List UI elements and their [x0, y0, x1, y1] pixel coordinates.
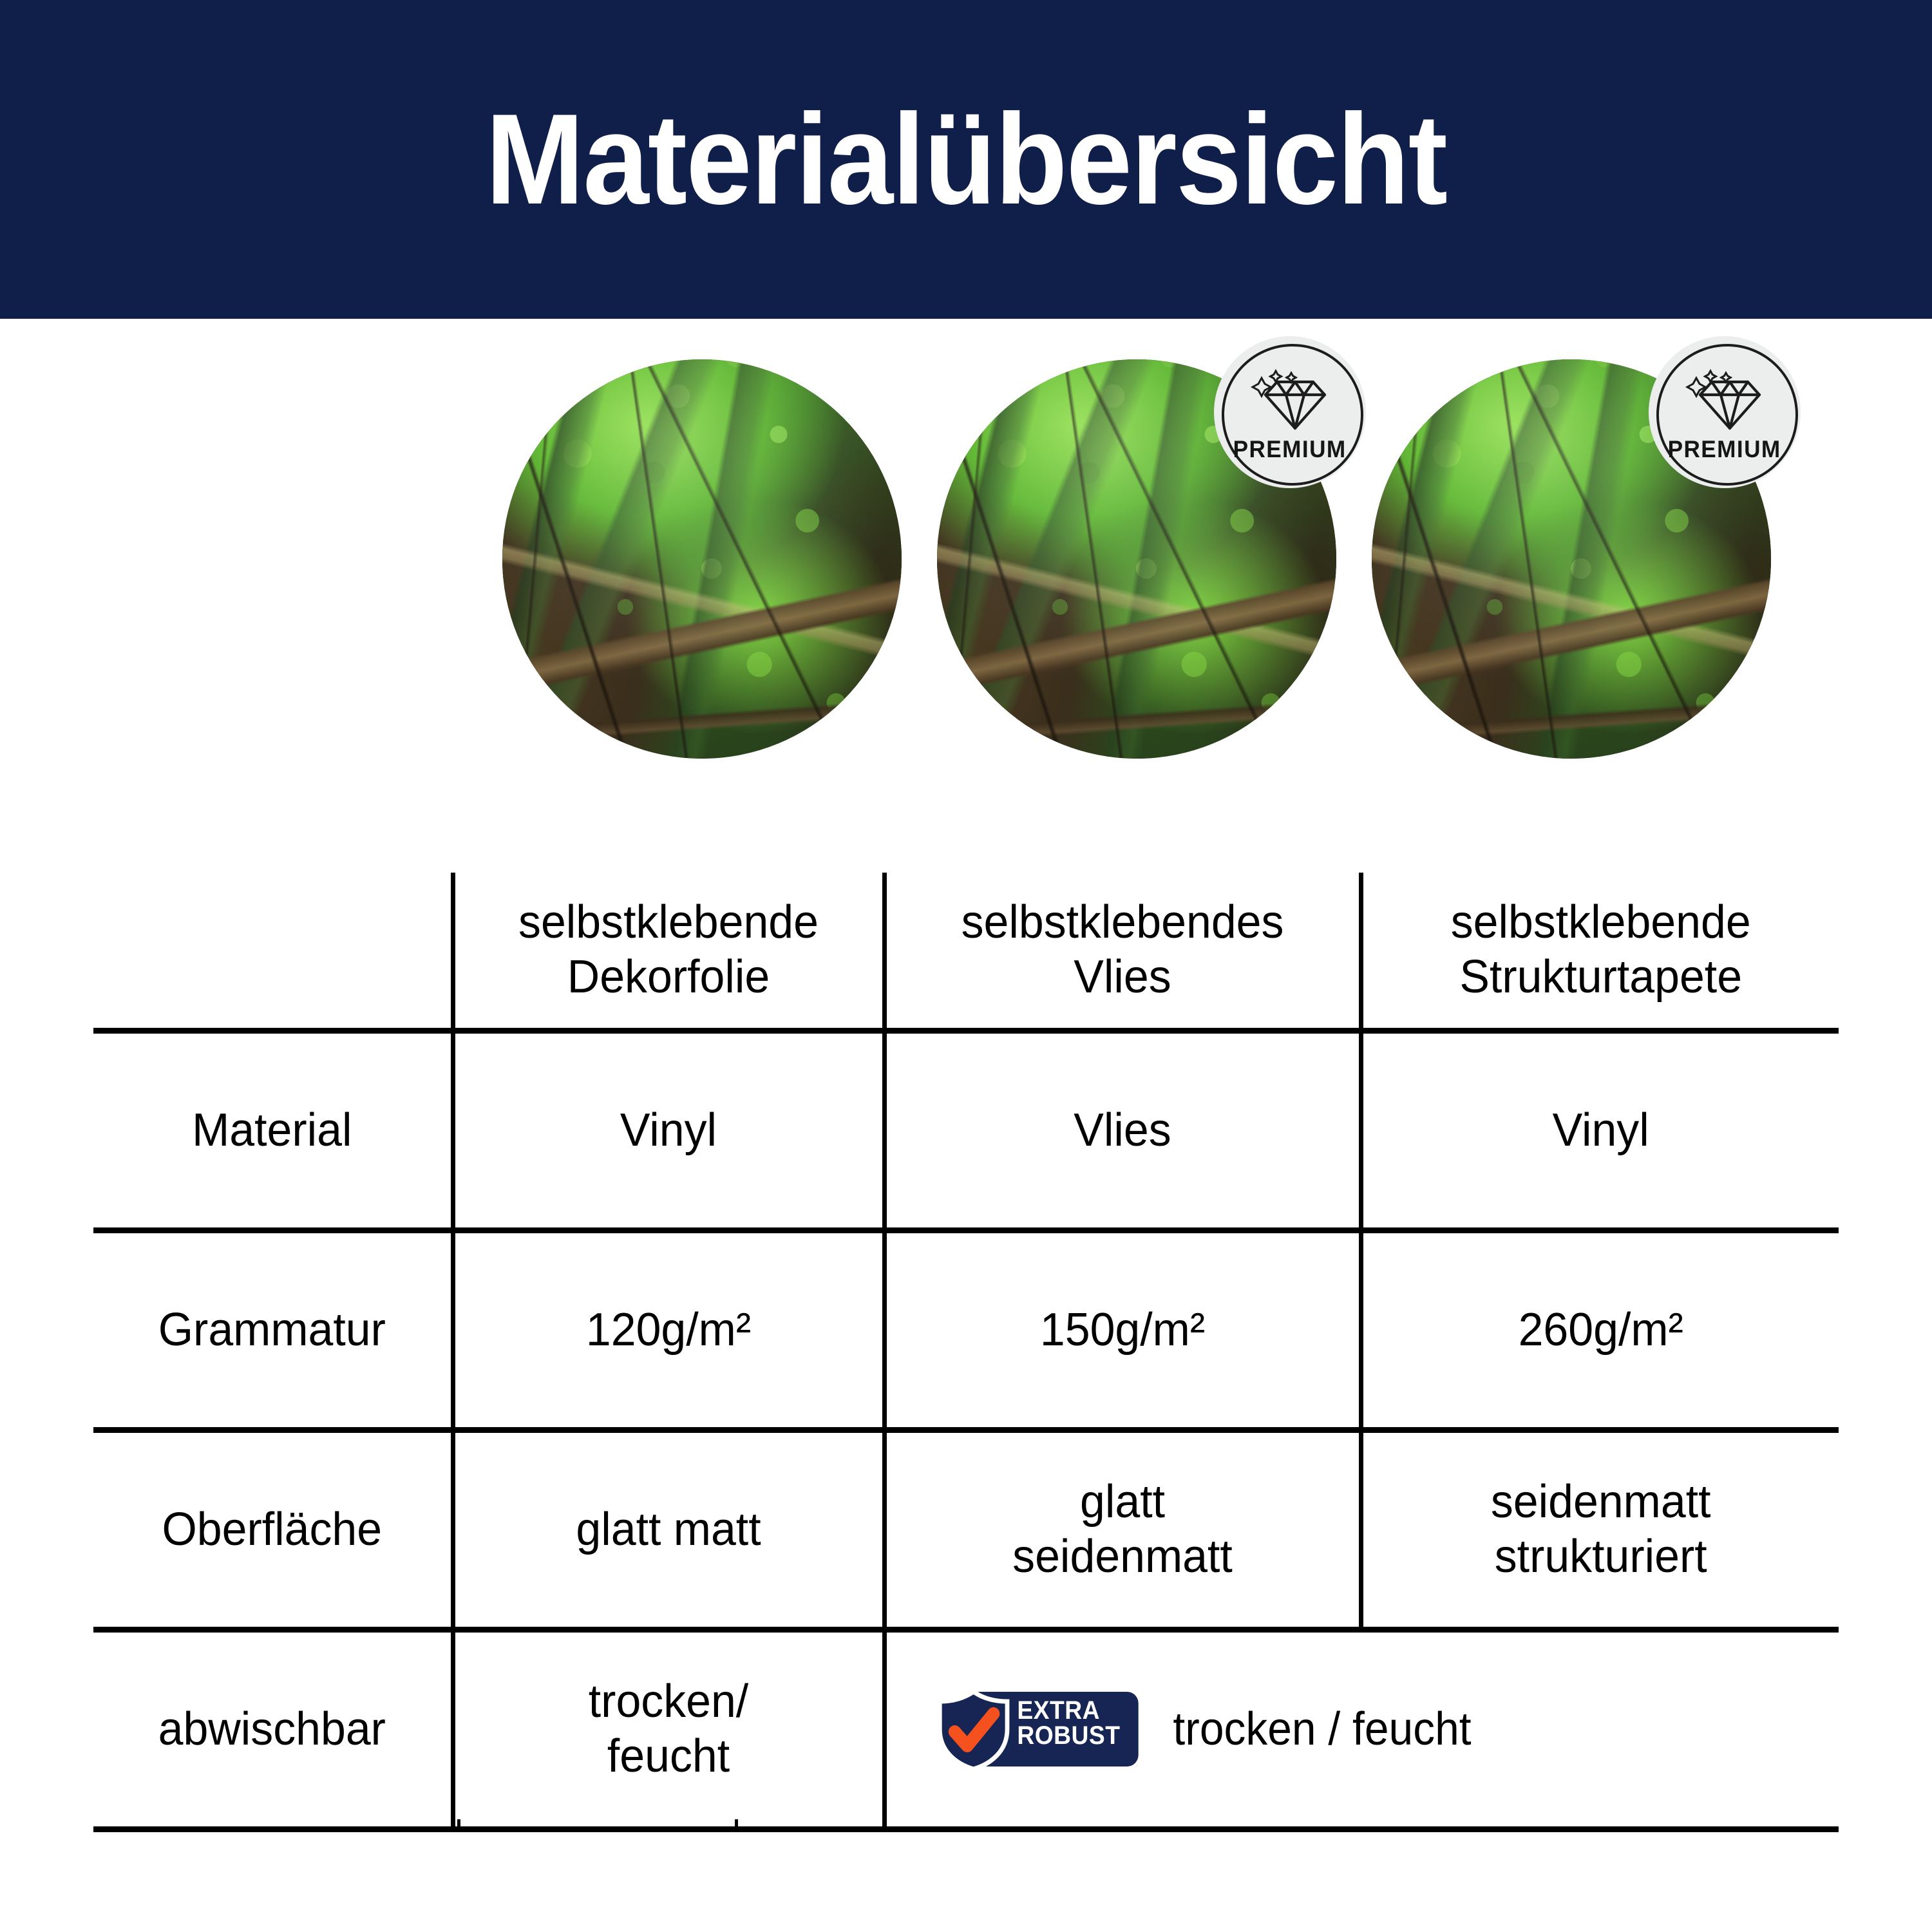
rule-tick-mark [457, 1819, 460, 1830]
header-line-2: Dekorfolie [470, 950, 867, 1005]
robust-line-1: EXTRA [1017, 1698, 1132, 1723]
header-cell-dekorfolie: selbstklebende Dekorfolie [459, 873, 878, 1030]
material-comparison-table: selbstklebende Dekorfolie selbstklebende… [93, 873, 1839, 1832]
cell-material-strukturtapete: Vinyl [1368, 1030, 1832, 1230]
robust-line-2: ROBUST [1017, 1723, 1132, 1748]
table-row: Material Vinyl Vlies Vinyl [93, 1030, 1839, 1230]
table-header-row: selbstklebende Dekorfolie selbstklebende… [93, 873, 1839, 1030]
header-cell-vlies: selbstklebendes Vlies [891, 873, 1354, 1030]
table-row: abwischbar trocken/ feucht [93, 1629, 1839, 1829]
premium-badge: PREMIUM [1214, 336, 1366, 488]
diamond-icon [1249, 369, 1331, 431]
header-line-1: selbstklebendes [902, 895, 1343, 950]
cell-abwischbar-dekorfolie: trocken/ feucht [459, 1629, 878, 1829]
cell-oberflaeche-vlies: glatt seidenmatt [891, 1430, 1354, 1629]
cell-oberflaeche-strukturtapete: seidenmatt strukturiert [1368, 1430, 1832, 1629]
cell-line-1: trocken/ [470, 1674, 867, 1729]
premium-badge-label: PREMIUM [1233, 436, 1347, 463]
rule-tick-mark [735, 1819, 738, 1830]
header-cell-strukturtapete: selbstklebende Strukturtapete [1368, 873, 1832, 1030]
swatch-vlies[interactable]: PREMIUM [937, 359, 1336, 759]
extra-robust-badge: EXTRA ROBUST [932, 1690, 1138, 1768]
row-label-material: Material [99, 1030, 447, 1230]
photo-vignette-layer [502, 359, 902, 759]
header-line-1: selbstklebende [470, 895, 867, 950]
robust-badge-text: EXTRA ROBUST [1017, 1698, 1132, 1748]
shield-check-icon [932, 1689, 1014, 1772]
cell-line-2: seidenmatt [902, 1529, 1343, 1584]
cell-grammatur-vlies: 150g/m² [891, 1230, 1354, 1430]
header-line-1: selbstklebende [1379, 895, 1823, 950]
swatch-dekorfolie[interactable] [502, 359, 902, 759]
row-label-abwischbar: abwischbar [99, 1629, 447, 1829]
cell-material-dekorfolie: Vinyl [459, 1030, 878, 1230]
page-title: Materialübersicht [486, 95, 1446, 224]
material-swatch-row: PREMIUM [0, 348, 1932, 799]
cell-line-1: seidenmatt [1379, 1475, 1823, 1529]
cell-grammatur-dekorfolie: 120g/m² [459, 1230, 878, 1430]
row-label-grammatur: Grammatur [99, 1230, 447, 1430]
cell-material-vlies: Vlies [891, 1030, 1354, 1230]
row-label-oberflaeche: Oberfläche [99, 1430, 447, 1629]
product-preview-image-1 [502, 359, 902, 759]
diamond-icon [1683, 369, 1766, 431]
table-row: Oberfläche glatt matt glatt seidenmatt s… [93, 1430, 1839, 1629]
premium-badge-label: PREMIUM [1668, 436, 1781, 463]
swatch-strukturtapete[interactable]: PREMIUM [1372, 359, 1771, 759]
page-header: Materialübersicht [0, 0, 1932, 319]
cell-line-2: strukturiert [1379, 1529, 1823, 1584]
cell-oberflaeche-dekorfolie: glatt matt [459, 1430, 878, 1629]
header-line-2: Strukturtapete [1379, 950, 1823, 1005]
cell-line-2: feucht [470, 1729, 867, 1784]
premium-badge: PREMIUM [1649, 336, 1801, 488]
cell-grammatur-strukturtapete: 260g/m² [1368, 1230, 1832, 1430]
cell-abwischbar-merged: EXTRA ROBUST trocken / feucht [898, 1629, 1824, 1829]
cell-line-1: glatt [902, 1475, 1343, 1529]
header-line-2: Vlies [902, 950, 1343, 1005]
header-cell-empty [99, 873, 447, 1030]
table-row: Grammatur 120g/m² 150g/m² 260g/m² [93, 1230, 1839, 1430]
cell-abwischbar-value: trocken / feucht [1173, 1702, 1471, 1757]
